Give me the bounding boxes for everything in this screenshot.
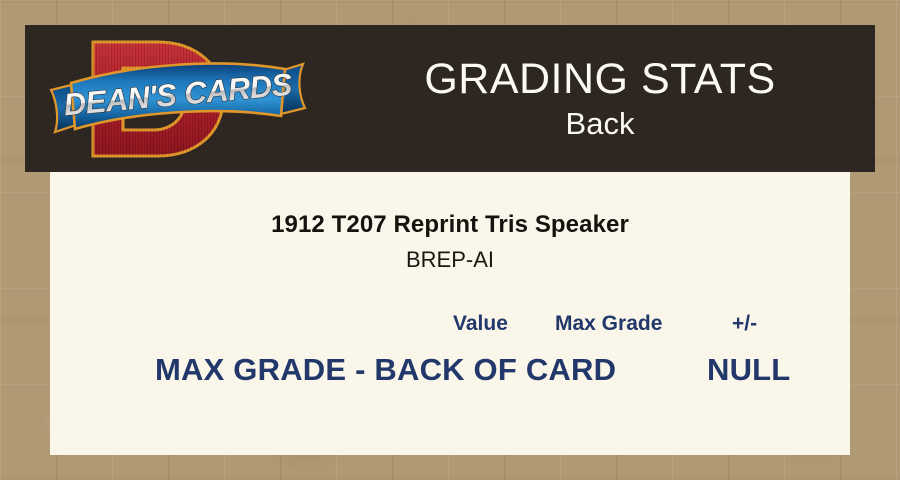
header-bar: DEAN'S CARDS GRADING STATS Back (25, 25, 875, 172)
deans-cards-logo-graphic: DEAN'S CARDS (45, 28, 315, 170)
deans-cards-logo[interactable]: DEAN'S CARDS (45, 28, 315, 170)
grading-stats-page: DEAN'S CARDS GRADING STATS Back 1912 T20… (0, 0, 900, 480)
card-subtitle: BREP-AI (50, 247, 850, 273)
column-header-max-grade: Max Grade (555, 312, 662, 336)
stats-table-header-row: Value Max Grade +/- (50, 312, 850, 342)
column-header-plus-minus: +/- (732, 312, 757, 336)
header-title-group: GRADING STATS Back (325, 25, 875, 172)
stat-row-plus-minus-value: NULL (707, 352, 790, 388)
content-panel: 1912 T207 Reprint Tris Speaker BREP-AI V… (50, 172, 850, 455)
table-row: MAX GRADE - BACK OF CARD NULL (50, 352, 850, 396)
stat-row-label: MAX GRADE - BACK OF CARD (155, 352, 616, 388)
grading-stats-table: Value Max Grade +/- MAX GRADE - BACK OF … (50, 312, 850, 396)
page-title: GRADING STATS (424, 55, 775, 103)
card-title: 1912 T207 Reprint Tris Speaker (50, 211, 850, 239)
page-subtitle: Back (566, 105, 635, 143)
column-header-value: Value (453, 312, 508, 336)
